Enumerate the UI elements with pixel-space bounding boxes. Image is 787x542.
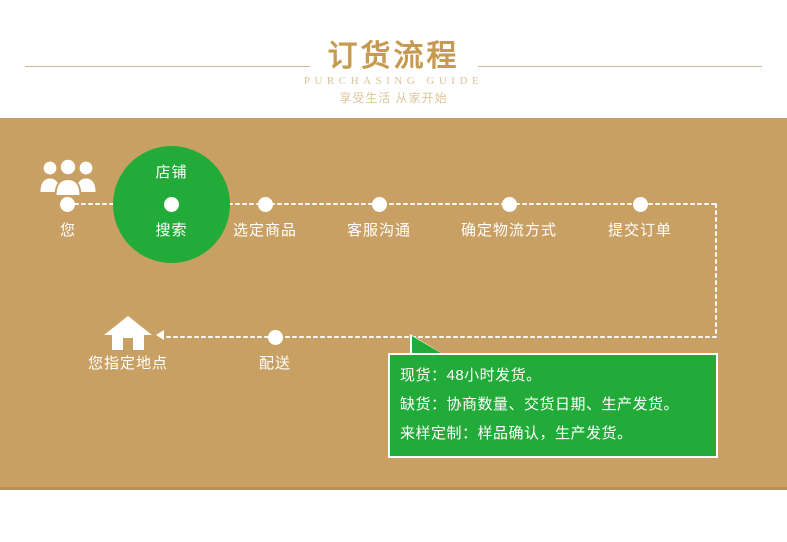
shipping-term-in-stock: 现货：48小时发货。 <box>400 361 714 390</box>
step-dot-customer-service <box>372 197 387 212</box>
shop-node-dot <box>164 197 179 212</box>
purchasing-guide-banner: 订货流程 PURCHASING GUIDE 享受生活 从家开始 您 店铺 搜索 … <box>0 0 787 542</box>
page-subtitle-english: PURCHASING GUIDE <box>0 74 787 88</box>
shipping-terms-list: 现货：48小时发货。 缺货：协商数量、交货日期、生产发货。 来样定制：样品确认，… <box>400 361 714 448</box>
start-node-dot <box>60 197 75 212</box>
step-label-delivery: 配送 <box>259 354 291 374</box>
step-dot-delivery <box>268 330 283 345</box>
shipping-term-out-of-stock: 缺货：协商数量、交货日期、生产发货。 <box>400 390 714 419</box>
step-label-submit-order: 提交订单 <box>608 221 672 241</box>
step-label-select-goods: 选定商品 <box>233 221 297 241</box>
destination-label: 您指定地点 <box>88 354 168 374</box>
page-subtitle-chinese: 享受生活 从家开始 <box>0 90 787 106</box>
panel-bottom-rule <box>0 487 787 490</box>
search-label: 搜索 <box>113 221 230 241</box>
home-icon <box>104 316 152 350</box>
step-dot-submit-order <box>633 197 648 212</box>
step-label-customer-service: 客服沟通 <box>347 221 411 241</box>
people-group-icon <box>40 158 96 198</box>
shop-label: 店铺 <box>113 163 230 183</box>
delivery-direction-arrow-icon <box>156 330 164 340</box>
step-label-logistics: 确定物流方式 <box>461 221 557 241</box>
page-title: 订货流程 <box>0 40 787 74</box>
step-dot-logistics <box>502 197 517 212</box>
start-node-label: 您 <box>60 221 76 241</box>
header: 订货流程 PURCHASING GUIDE 享受生活 从家开始 <box>0 0 787 118</box>
shipping-term-custom-sample: 来样定制：样品确认，生产发货。 <box>400 419 714 448</box>
step-dot-select-goods <box>258 197 273 212</box>
